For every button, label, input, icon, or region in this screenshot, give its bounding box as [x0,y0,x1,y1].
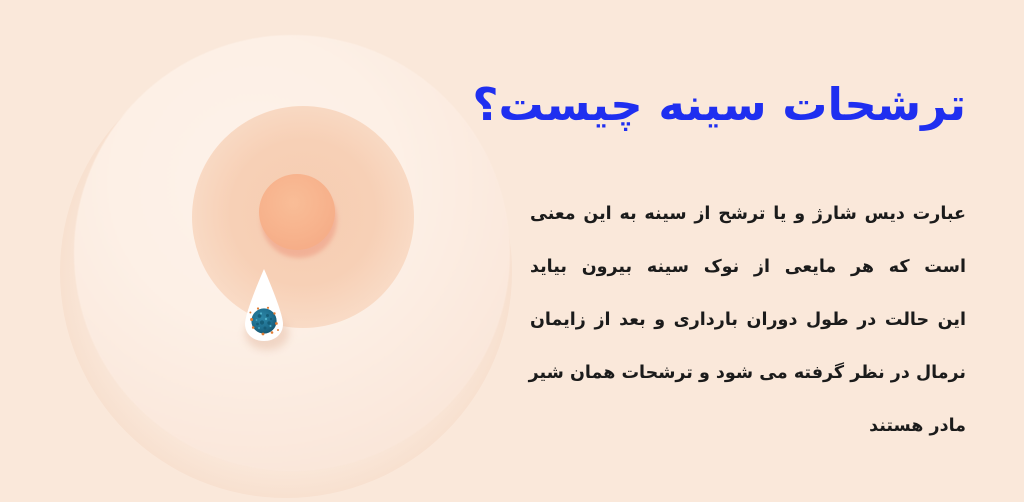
milk-droplet-group [236,268,296,354]
body-line-4: نرمال در نظر گرفته می شود و ترشحات همان … [530,347,966,400]
infographic-canvas: ترشحات سینه چیست؟ عبارت دیس شارژ و یا تر… [0,0,1024,502]
text-column: ترشحات سینه چیست؟ عبارت دیس شارژ و یا تر… [530,0,966,502]
page-title: ترشحات سینه چیست؟ [530,79,966,131]
breast-illustration [0,0,512,502]
body-line-5: مادر هستند [530,400,966,453]
body-paragraph: عبارت دیس شارژ و یا ترشح از سینه به این … [530,188,966,453]
germ-cluster-icon [249,306,279,336]
body-line-3: این حالت در طول دوران بارداری و بعد از ز… [530,294,966,347]
body-line-1: عبارت دیس شارژ و یا ترشح از سینه به این … [530,188,966,241]
body-line-2: است که هر مایعی از نوک سینه بیرون بیاید [530,241,966,294]
nipple-circle [259,174,335,250]
